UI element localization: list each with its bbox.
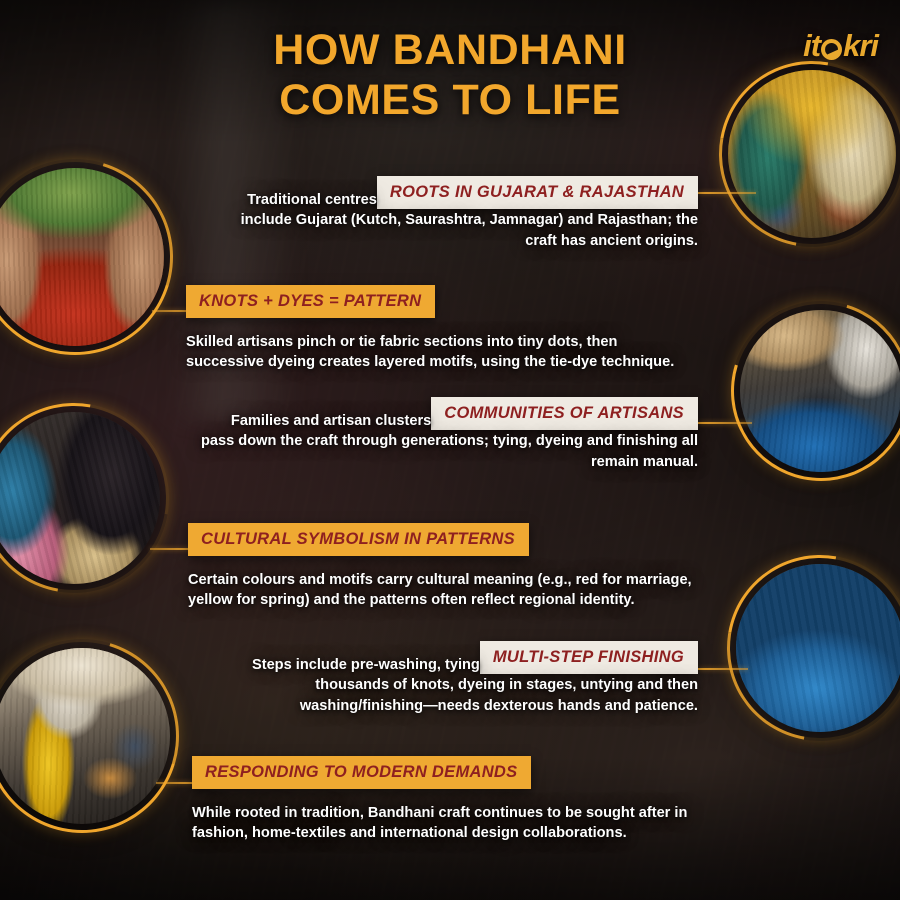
step-modern-label[interactable]: RESPONDING TO MODERN DEMANDS [192, 756, 531, 789]
step-symbolism-label[interactable]: CULTURAL SYMBOLISM IN PATTERNS [188, 523, 529, 556]
step-roots-label[interactable]: ROOTS IN GUJARAT & RAJASTHAN [377, 176, 698, 209]
step-finishing-label[interactable]: MULTI-STEP FINISHING [480, 641, 698, 674]
step-roots: ROOTS IN GUJARAT & RAJASTHAN Traditional… [230, 176, 698, 251]
connector-communities [698, 422, 752, 424]
photo-right-women-yellow [728, 70, 896, 238]
photo-left-yellow-dye [0, 648, 170, 824]
brand-logo-prefix: it [803, 28, 820, 64]
step-symbolism: CULTURAL SYMBOLISM IN PATTERNS Certain c… [188, 523, 700, 611]
photo-left-women [0, 412, 160, 584]
step-communities: COMMUNITIES OF ARTISANS Families and art… [200, 397, 698, 472]
brand-logo-suffix: kri [843, 28, 878, 64]
step-knots-label[interactable]: KNOTS + DYES = PATTERN [186, 285, 435, 318]
step-knots-body: Skilled artisans pinch or tie fabric sec… [186, 332, 698, 373]
step-modern: RESPONDING TO MODERN DEMANDS While roote… [192, 756, 692, 844]
step-finishing: MULTI-STEP FINISHING Steps include pre-w… [230, 641, 698, 716]
step-symbolism-body: Certain colours and motifs carry cultura… [188, 570, 700, 611]
step-modern-body: While rooted in tradition, Bandhani craf… [192, 803, 692, 844]
brand-logo-itokri[interactable]: it kri [803, 28, 878, 64]
connector-finishing [698, 668, 748, 670]
brand-logo-o-icon [821, 39, 842, 60]
step-communities-label[interactable]: COMMUNITIES OF ARTISANS [431, 397, 698, 430]
connector-roots [698, 192, 756, 194]
step-knots: KNOTS + DYES = PATTERN Skilled artisans … [186, 285, 698, 373]
infographic-poster: HOW BANDHANI COMES TO LIFE it kri [0, 0, 900, 900]
photo-right-indigo-vat [736, 564, 900, 732]
photo-right-indigo-man [740, 310, 900, 472]
photo-left-tying [0, 168, 164, 346]
